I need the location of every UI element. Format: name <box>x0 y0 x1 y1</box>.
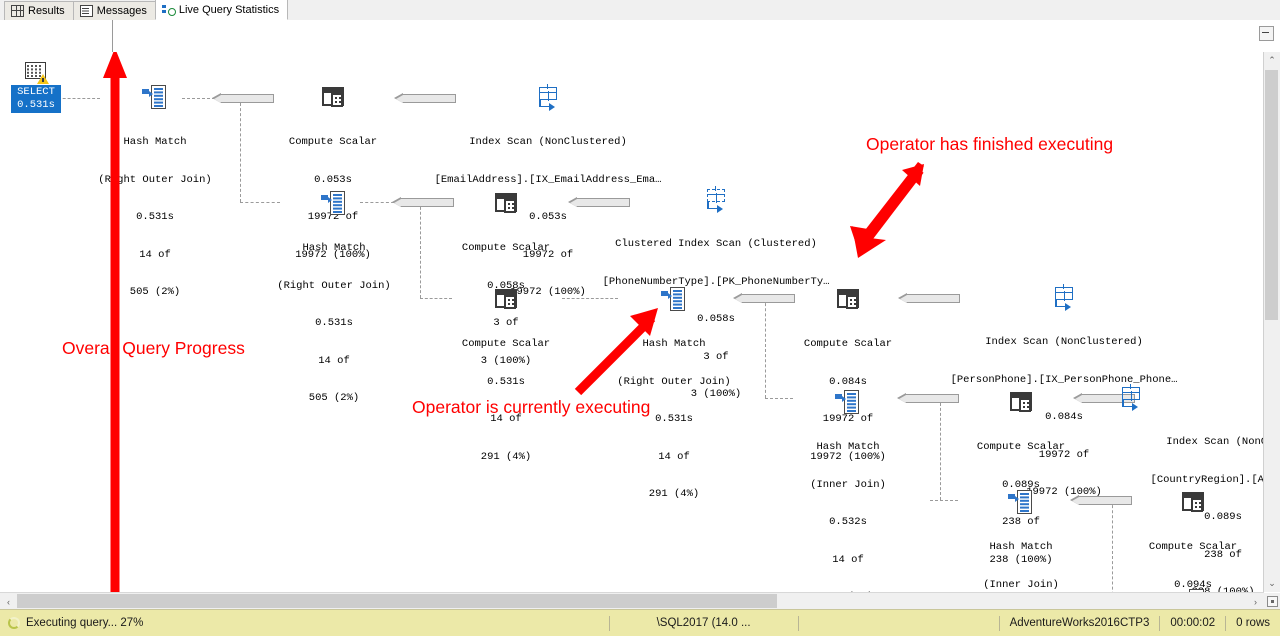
warning-triangle-icon <box>37 74 49 84</box>
tab-live-query-statistics-label: Live Query Statistics <box>179 4 279 16</box>
index-scan-icon <box>1051 285 1077 309</box>
node-rows: 14 of <box>612 451 736 464</box>
node-line1: Index Scan (NonClustered) <box>945 336 1183 349</box>
plan-node-hash-match-4[interactable]: Hash Match (Inner Join) 0.532s 14 of 291… <box>790 365 906 592</box>
select-cost-text: 0.531s <box>17 99 55 111</box>
spinner-icon <box>8 617 20 629</box>
scroll-right-icon[interactable]: › <box>1247 593 1264 610</box>
annotation-operator-executing: Operator is currently executing <box>412 397 650 418</box>
status-executing: Executing query... 27% <box>0 617 143 629</box>
tab-results[interactable]: Results <box>4 1 74 20</box>
annotation-arrow-progress <box>100 52 130 592</box>
results-tabstrip: Results Messages Live Query Statistics <box>0 0 1280 21</box>
horizontal-scrollbar[interactable]: ‹ › <box>0 592 1264 610</box>
node-line1: Index Scan (NonClu <box>1118 436 1280 449</box>
scroll-left-icon[interactable]: ‹ <box>0 593 17 610</box>
plan-node-hash-match-6[interactable]: Hash Match <box>1135 564 1251 592</box>
scroll-up-icon[interactable]: ⌃ <box>1264 52 1280 69</box>
node-line2: (Right Outer Join) <box>272 280 396 293</box>
tab-results-label: Results <box>28 5 65 17</box>
node-line1: Compute Scalar <box>448 242 564 255</box>
node-line1: Hash Match <box>963 541 1079 554</box>
annotation-overall-progress: Overall Query Progress <box>62 338 245 359</box>
vertical-scroll-thumb[interactable] <box>1265 70 1278 320</box>
compute-scalar-icon <box>493 287 519 311</box>
tab-messages-label: Messages <box>97 5 147 17</box>
status-rows: 0 rows <box>1226 617 1280 629</box>
select-node[interactable]: SELECT 0.531s <box>6 62 66 113</box>
estimated-query-progress: Estimated query progress:27% <box>2 21 110 51</box>
compute-scalar-icon <box>493 191 519 215</box>
collapse-icon[interactable] <box>1259 26 1274 41</box>
compute-scalar-icon <box>320 85 346 109</box>
scroll-down-icon[interactable]: ⌄ <box>1264 575 1280 592</box>
annotation-operator-finished: Operator has finished executing <box>866 134 1113 155</box>
horizontal-scroll-thumb[interactable] <box>17 594 777 608</box>
node-line1: Compute Scalar <box>448 338 564 351</box>
node-time: 0.531s <box>272 317 396 330</box>
node-line1: Clustered Index Scan (Clustered) <box>600 238 832 251</box>
tab-live-query-statistics[interactable]: Live Query Statistics <box>155 0 288 20</box>
status-elapsed: 00:00:02 <box>1160 617 1225 629</box>
connector <box>940 398 941 500</box>
select-node-label: SELECT 0.531s <box>11 85 61 113</box>
status-executing-text: Executing query... 27% <box>26 617 143 629</box>
node-total: 291 (4%) <box>612 488 736 501</box>
node-line2: (Inner Join) <box>790 479 906 492</box>
status-database: AdventureWorks2016CTP3 <box>1000 617 1160 629</box>
select-label-text: SELECT <box>17 86 55 98</box>
tab-messages[interactable]: Messages <box>73 1 156 20</box>
status-server: \SQL2017 (14.0 ... <box>610 617 798 629</box>
compute-scalar-icon <box>835 287 861 311</box>
node-time: 0.531s <box>448 376 564 389</box>
connector <box>420 202 421 298</box>
node-line2: (Inner Join) <box>963 579 1079 592</box>
node-rows: 14 of <box>272 355 396 368</box>
annotation-arrow-executing <box>560 300 670 400</box>
plan-node-hash-match-2[interactable]: Hash Match (Right Outer Join) 0.531s 14 … <box>272 166 396 430</box>
clustered-index-scan-icon <box>703 187 729 211</box>
hash-match-icon <box>142 85 168 109</box>
node-line1: Compute Scalar <box>790 338 906 351</box>
live-query-stats-icon <box>162 4 175 16</box>
compute-scalar-icon <box>1008 390 1034 414</box>
index-scan-icon <box>535 85 561 109</box>
execution-plan-canvas[interactable]: SELECT 0.531s Hash Match (Right Outer Jo… <box>0 52 1280 592</box>
node-line1: Index Scan (NonClustered) <box>428 136 668 149</box>
compute-scalar-icon <box>1180 490 1206 514</box>
hash-match-icon <box>321 191 347 215</box>
node-line1: Hash Match <box>272 242 396 255</box>
scroll-corner-button[interactable] <box>1264 593 1280 610</box>
node-line1: Compute Scalar <box>963 441 1079 454</box>
data-flow-arrow <box>212 94 274 103</box>
connector <box>240 98 241 202</box>
vertical-scrollbar[interactable]: ⌃ ⌄ <box>1263 52 1280 592</box>
hash-match-icon <box>835 390 861 414</box>
node-time: 0.532s <box>790 516 906 529</box>
status-bar: Executing query... 27% \SQL2017 (14.0 ..… <box>0 609 1280 636</box>
messages-icon <box>80 5 93 17</box>
plan-node-hash-match-5[interactable]: Hash Match (Inner Join) 0.532s 14 of 291… <box>963 465 1079 592</box>
node-line1: Compute Scalar <box>1135 541 1251 554</box>
node-total: 291 (4%) <box>448 451 564 464</box>
node-line1: Hash Match <box>790 441 906 454</box>
header-divider <box>112 20 113 52</box>
hash-match-icon <box>1008 490 1034 514</box>
index-scan-icon <box>1118 385 1144 409</box>
node-line1: Compute Scalar <box>275 136 391 149</box>
node-total: 505 (2%) <box>272 392 396 405</box>
annotation-arrow-finished <box>840 160 930 260</box>
grid-icon <box>11 5 24 17</box>
query-header: Estimated query progress:27% Query 1: Qu… <box>0 20 1280 53</box>
node-rows: 14 of <box>790 554 906 567</box>
select-result-icon <box>23 62 49 84</box>
plan-node-compute-scalar-3[interactable]: Compute Scalar 0.531s 14 of 291 (4%) <box>448 262 564 488</box>
live-query-statistics-window: Results Messages Live Query Statistics E… <box>0 0 1280 636</box>
